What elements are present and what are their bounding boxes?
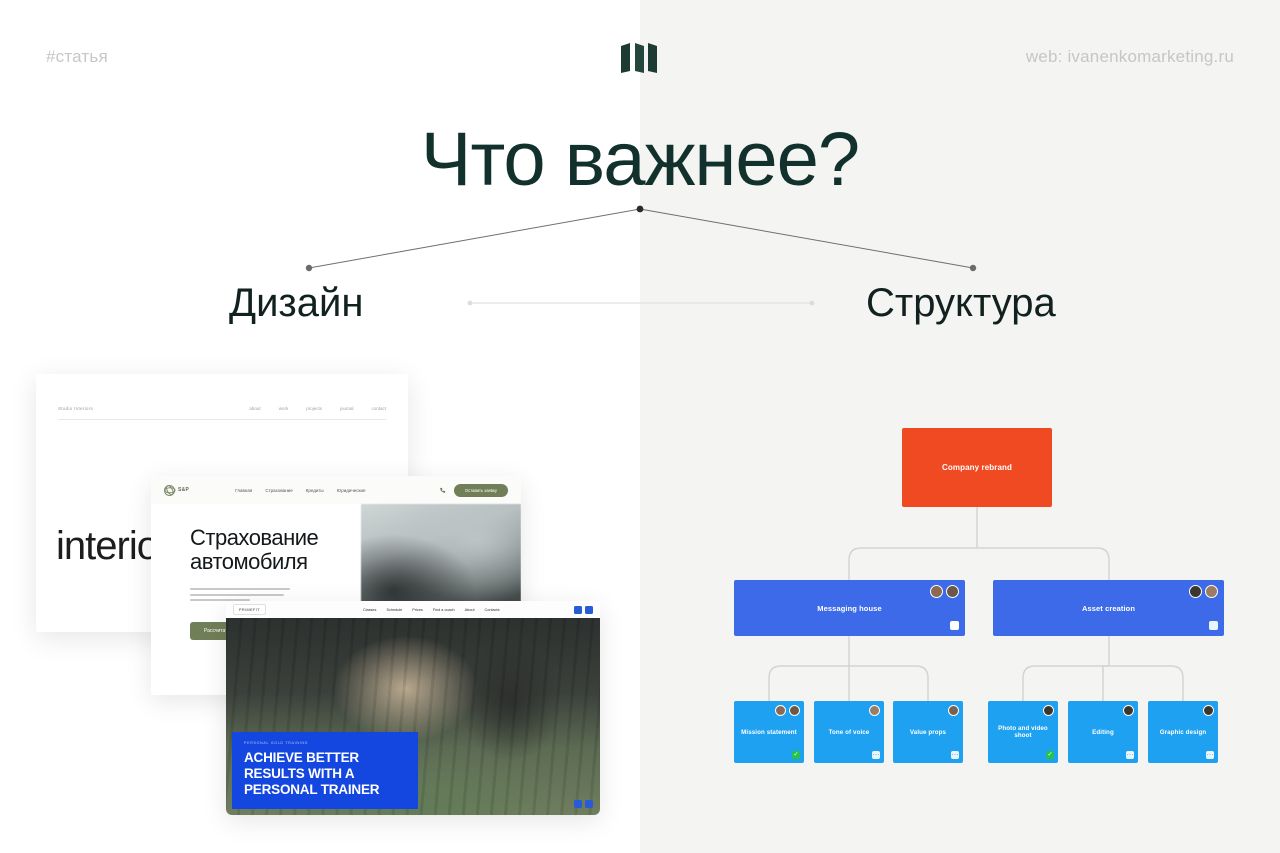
design-mockups-group: Studio Interiors about work projects jou… (0, 0, 640, 853)
search-icon (574, 606, 582, 614)
headline-line-1: Страхование (190, 526, 318, 550)
menu-item: About (465, 608, 475, 612)
avatar (789, 705, 800, 716)
diagram-node-mission-statement[interactable]: Mission statement ✓ (734, 701, 804, 763)
mockup-insurance-header-right: Оставить заявку (439, 484, 508, 497)
avatar (930, 585, 943, 598)
avatar (1123, 705, 1134, 716)
status-badge: ✓ (792, 751, 800, 759)
avatar (1203, 705, 1214, 716)
mockup-fitness-site[interactable]: PRIMEFIT Classes Schedule Prices Find a … (226, 601, 600, 815)
mockup-fitness-brand: PRIMEFIT (233, 604, 266, 615)
avatar (1189, 585, 1202, 598)
menu-item: Кредиты (306, 488, 324, 493)
node-label: Value props (910, 729, 946, 736)
mockup-fitness-headline: ACHIEVE BETTER RESULTS WITH A PERSONAL T… (244, 750, 406, 798)
mockup-fitness-menu: Classes Schedule Prices Find a coach Abo… (363, 608, 500, 612)
node-label: Graphic design (1160, 729, 1206, 736)
avatar (869, 705, 880, 716)
mockup-insurance-logo: S&P (164, 485, 189, 496)
mockup-insurance-header: S&P Главная Страхование Кредиты Юридичес… (151, 476, 521, 504)
status-badge: ✓ (1046, 751, 1054, 759)
flower-logo-icon (164, 485, 175, 496)
search-icon (574, 800, 582, 808)
status-badge: ⋯ (872, 751, 880, 759)
node-avatars (1123, 705, 1134, 716)
diagram-node-asset-creation[interactable]: Asset creation (993, 580, 1224, 636)
avatar (946, 585, 959, 598)
diagram-node-value-props[interactable]: Value props ⋯ (893, 701, 963, 763)
node-label: Asset creation (1082, 604, 1135, 613)
mockup-insurance-logo-text: S&P (178, 487, 189, 493)
node-avatars (775, 705, 800, 716)
mockup-fitness-footer-icons (574, 800, 593, 808)
node-label: Messaging house (817, 604, 881, 613)
user-icon (585, 800, 593, 808)
node-avatars (1043, 705, 1054, 716)
menu-item: contact (371, 406, 386, 411)
node-avatars (930, 585, 959, 598)
menu-item: Contacts (485, 608, 500, 612)
mockup-insurance-nav-cta: Оставить заявку (454, 484, 508, 497)
mockup-fitness-header: PRIMEFIT Classes Schedule Prices Find a … (226, 601, 600, 618)
mockup-insurance-menu: Главная Страхование Кредиты Юридические (235, 488, 365, 493)
status-badge: ⋯ (1206, 751, 1214, 759)
status-badge (950, 621, 959, 630)
node-label: Mission statement (741, 729, 797, 736)
menu-item: Главная (235, 488, 252, 493)
headline-line-1: ACHIEVE BETTER (244, 750, 406, 766)
avatar (948, 705, 959, 716)
menu-item: journal (340, 406, 354, 411)
node-label: Company rebrand (942, 463, 1012, 472)
diagram-node-messaging-house[interactable]: Messaging house (734, 580, 965, 636)
status-badge: ⋯ (951, 751, 959, 759)
avatar (1043, 705, 1054, 716)
diagram-node-editing[interactable]: Editing ⋯ (1068, 701, 1138, 763)
menu-item: Schedule (386, 608, 402, 612)
menu-item: projects (306, 406, 322, 411)
menu-item: work (279, 406, 289, 411)
status-badge: ⋯ (1126, 751, 1134, 759)
node-avatars (869, 705, 880, 716)
avatar (775, 705, 786, 716)
structure-diagram: Company rebrand Messaging house Asset cr… (640, 0, 1280, 853)
mockup-fitness-eyebrow: PERSONAL GOLD TRAINING (244, 741, 406, 745)
avatar (1205, 585, 1218, 598)
mockup-fitness-overlay: PERSONAL GOLD TRAINING ACHIEVE BETTER RE… (232, 732, 418, 809)
phone-icon (439, 487, 446, 494)
menu-item: Find a coach (433, 608, 455, 612)
node-label: Editing (1092, 729, 1114, 736)
diagram-node-tone-of-voice[interactable]: Tone of voice ⋯ (814, 701, 884, 763)
menu-item: Страхование (265, 488, 292, 493)
node-avatars (1189, 585, 1218, 598)
mockup-interior-brand: Studio Interiors (58, 406, 93, 411)
menu-item: Юридические (337, 488, 366, 493)
node-label: Photo and video shoot (992, 725, 1054, 739)
node-avatars (1203, 705, 1214, 716)
headline-line-3: PERSONAL TRAINER (244, 782, 406, 798)
node-avatars (948, 705, 959, 716)
menu-item: Prices (412, 608, 423, 612)
diagram-node-photo-and-video-shoot[interactable]: Photo and video shoot ✓ (988, 701, 1058, 763)
mockup-insurance-headline: Страхование автомобиля (190, 526, 318, 574)
menu-item: Classes (363, 608, 377, 612)
diagram-node-root[interactable]: Company rebrand (902, 428, 1052, 507)
mockup-interior-nav: Studio Interiors about work projects jou… (58, 406, 386, 420)
diagram-node-graphic-design[interactable]: Graphic design ⋯ (1148, 701, 1218, 763)
mockup-fitness-header-icons (574, 606, 593, 614)
headline-line-2: автомобиля (190, 550, 318, 574)
mockup-interior-menu: about work projects journal contact (249, 406, 386, 411)
menu-item: about (249, 406, 260, 411)
headline-line-2: RESULTS WITH A (244, 766, 406, 782)
menu-icon (585, 606, 593, 614)
status-badge (1209, 621, 1218, 630)
node-label: Tone of voice (829, 729, 870, 736)
